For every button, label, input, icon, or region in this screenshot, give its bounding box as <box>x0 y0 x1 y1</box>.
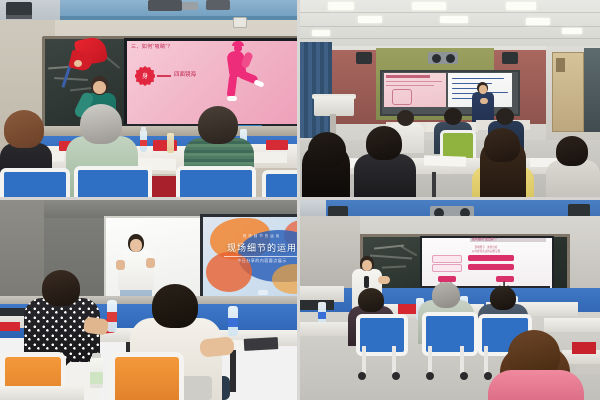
bottle-label <box>90 372 103 384</box>
attendee-head <box>4 110 44 148</box>
chair-caster <box>426 372 434 380</box>
chair-blue <box>74 166 152 197</box>
attendee-head <box>490 286 516 310</box>
attendee-head <box>152 284 198 328</box>
bottle-label <box>228 318 238 327</box>
collage-seam-horizontal <box>0 197 600 200</box>
desk-leg <box>432 172 436 197</box>
attendee-head <box>308 132 346 168</box>
chair-caster <box>392 372 400 380</box>
attendee-head <box>198 106 238 144</box>
attendee-body <box>354 154 416 197</box>
slide-text-line <box>386 85 434 86</box>
attendee-head <box>80 104 122 144</box>
ceiling-grid-line <box>300 26 600 27</box>
attendee-head <box>397 110 414 126</box>
doorway-opening <box>584 48 600 132</box>
microphone-icon <box>364 276 369 288</box>
photo-panel-bottom-right: 如何做到“更出彩”？ 现场细节 · 案例分析 从内容到表达的完整呈现 示例 小结 <box>300 200 600 400</box>
chair-leg <box>392 346 396 374</box>
attendee-head <box>484 128 520 162</box>
slide-title: 现场细节的运用 <box>202 241 297 254</box>
presenter-hand <box>146 258 155 268</box>
desk <box>544 318 600 332</box>
camera-icon <box>206 0 230 10</box>
wall-outlet-icon <box>233 17 247 28</box>
desk <box>576 364 600 374</box>
paper-sheet <box>424 155 466 166</box>
dancer-figure-shoe <box>227 96 237 101</box>
slide-heading: 三、如何“吸睛”？ <box>131 43 201 50</box>
ceiling-light <box>412 2 446 10</box>
presenter-hand <box>74 60 82 67</box>
attendee-arm <box>83 316 109 335</box>
ceiling-grid-line <box>300 38 600 39</box>
presenter-hand <box>480 98 488 104</box>
desk-name-card <box>266 140 288 150</box>
door-window <box>556 58 565 72</box>
photo-panel-bottom-left: 现场细节的运用 现场细节的运用 今日分享的内容要点展示 <box>0 200 297 400</box>
ceiling-light <box>506 2 536 10</box>
desk <box>300 322 352 336</box>
presenter-face <box>362 260 372 271</box>
speaker-icon <box>502 52 518 64</box>
left-wall <box>300 216 360 290</box>
dancer-figure-hat <box>232 41 244 46</box>
desk <box>0 386 84 400</box>
slide-connector <box>157 75 171 77</box>
attendee-head <box>556 136 588 166</box>
photo-panel-top-right <box>300 0 600 197</box>
speaker-icon <box>6 2 32 16</box>
handwriting-stroke <box>452 98 474 99</box>
ceiling-light <box>312 30 330 36</box>
chair-blue <box>176 166 256 197</box>
chair-leg <box>484 346 488 374</box>
slide-kicker: 现场细节的运用 <box>202 234 297 239</box>
camera-icon <box>446 54 455 63</box>
bottle-cap <box>141 127 146 132</box>
attendee-head <box>432 282 460 308</box>
chair-blue <box>0 168 70 197</box>
slide-tag <box>468 255 514 261</box>
speaker-icon <box>356 52 372 64</box>
chair-blue <box>262 170 297 197</box>
slide-tag <box>432 264 462 272</box>
presenter-arm <box>378 276 390 284</box>
screen-brand-logo <box>258 290 268 295</box>
ceiling-light <box>562 28 582 34</box>
slide-divider <box>224 256 297 257</box>
desk-name-card <box>572 342 596 354</box>
chair-orange <box>110 352 184 400</box>
presenter-face <box>479 85 487 94</box>
window-curtain <box>300 42 332 138</box>
ceiling-light <box>358 16 382 23</box>
bottle-label <box>107 312 117 322</box>
presenter-hand <box>116 260 125 270</box>
presenter-face <box>130 239 142 252</box>
ceiling-light <box>526 18 550 25</box>
ceiling-light <box>440 16 468 23</box>
slide-heading: 如何做到“更出彩”？ <box>472 237 498 241</box>
slide-subtitle: 四面镜海 <box>174 70 196 78</box>
attendee-body <box>488 370 584 400</box>
chair-caster <box>484 372 492 380</box>
desk-name-card <box>0 322 20 331</box>
chair-caster <box>358 372 366 380</box>
bottle-label <box>318 312 326 319</box>
handwriting-stroke <box>452 78 504 79</box>
slide-subtitle: 今日分享的内容要点展示 <box>202 258 297 264</box>
attendee-head <box>358 288 384 312</box>
camera-icon <box>432 54 441 63</box>
attendee-head <box>444 108 462 125</box>
paper-sheet <box>253 152 287 163</box>
ceiling-grid-line <box>300 12 600 13</box>
slide-tag <box>468 264 514 270</box>
wall-ledge <box>30 126 297 136</box>
presenter-face <box>93 81 106 94</box>
chair-leg <box>428 346 432 374</box>
ceiling-light <box>328 2 354 10</box>
chair-leg <box>362 346 366 374</box>
lectern <box>314 96 354 116</box>
slide-text-line: 从内容到表达的完整呈现 <box>450 249 522 253</box>
projector-icon <box>148 0 182 11</box>
console-panel <box>300 300 334 310</box>
collage-seam-vertical <box>297 0 300 400</box>
attendee-head <box>42 270 80 306</box>
bottle-label <box>140 140 147 146</box>
chair-leg <box>460 346 464 374</box>
slide-diagram <box>392 89 412 105</box>
slide-text-line <box>386 81 442 82</box>
presenter-body <box>118 250 154 290</box>
slide-tag <box>432 255 462 263</box>
attendee-head <box>496 108 514 125</box>
photo-collage: 三、如何“吸睛”？ 身 四面镜海 <box>0 0 600 400</box>
tablet-device <box>244 337 279 351</box>
speaker-bracket <box>6 15 32 19</box>
chair-caster <box>460 372 468 380</box>
slide-header-bar <box>386 75 430 78</box>
water-bottle <box>167 133 174 153</box>
photo-panel-top-left: 三、如何“吸睛”？ 身 四面镜海 <box>0 0 297 197</box>
projector-mount <box>182 2 198 10</box>
slide-button: 小结 <box>496 276 514 282</box>
attendee-head <box>366 126 402 160</box>
slide-badge-label: 身 <box>135 71 155 80</box>
